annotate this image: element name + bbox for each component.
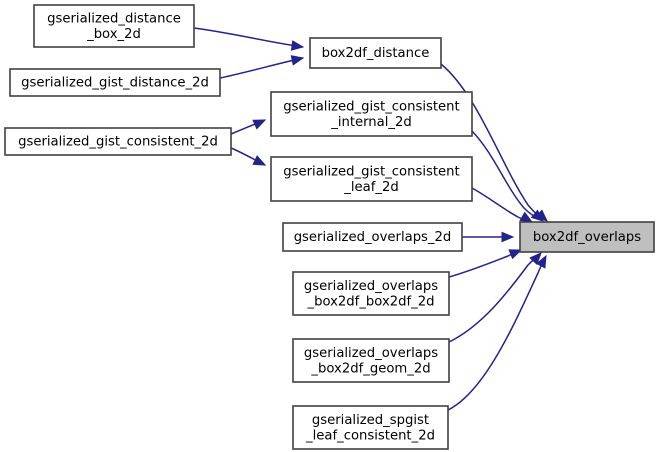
- arrowhead-icon: [291, 41, 303, 52]
- node-label: gserialized_overlaps_2d: [294, 230, 452, 245]
- edge-gserialized_gist_consistent_internal_2d-to-box2df_overlaps: [472, 131, 546, 225]
- edge-gserialized_overlaps_box2df_geom_2d-to-box2df_overlaps: [449, 250, 544, 342]
- node-gserialized_gist_consistent_internal_2d[interactable]: gserialized_gist_consistent_internal_2d: [271, 92, 472, 136]
- arrowhead-icon: [253, 116, 267, 129]
- edge-line: [449, 252, 517, 277]
- edge-gserialized_gist_consistent_2d-to-gserialized_gist_consistent_leaf_2d: [231, 148, 267, 169]
- node-label: _internal_2d: [330, 115, 412, 130]
- call-graph-svg: gserialized_distance_box_2dgserialized_g…: [0, 0, 657, 452]
- node-label: gserialized_gist_consistent: [283, 164, 459, 179]
- edge-gserialized_spgist_leaf_consistent_2d-to-box2df_overlaps: [448, 254, 550, 410]
- edge-line: [448, 261, 543, 410]
- node-box2df_overlaps[interactable]: box2df_overlaps: [520, 222, 654, 252]
- node-label: box2df_distance: [322, 46, 430, 61]
- edge-gserialized_gist_consistent_leaf_2d-to-box2df_overlaps: [472, 188, 534, 226]
- node-gserialized_spgist_leaf_consistent_2d[interactable]: gserialized_spgist_leaf_consistent_2d: [293, 406, 448, 449]
- node-label: gserialized_distance: [47, 11, 181, 26]
- arrowhead-icon: [291, 54, 304, 65]
- node-gserialized_distance_box_2d[interactable]: gserialized_distance_box_2d: [34, 5, 194, 47]
- edge-line: [472, 188, 528, 221]
- node-label: _box2df_box2df_2d: [306, 294, 434, 309]
- edge-gserialized_gist_distance_2d-to-box2df_distance: [220, 54, 304, 78]
- node-label: gserialized_gist_consistent: [283, 99, 459, 114]
- node-gserialized_overlaps_2d[interactable]: gserialized_overlaps_2d: [283, 223, 462, 251]
- node-label: _leaf_consistent_2d: [305, 428, 435, 443]
- node-gserialized_gist_consistent_leaf_2d[interactable]: gserialized_gist_consistent_leaf_2d: [271, 157, 472, 201]
- node-gserialized_overlaps_box2df_box2df_2d[interactable]: gserialized_overlaps_box2df_box2df_2d: [293, 272, 449, 315]
- node-gserialized_overlaps_box2df_geom_2d[interactable]: gserialized_overlaps_box2df_geom_2d: [293, 339, 449, 382]
- arrowhead-icon: [502, 232, 513, 241]
- node-label: gserialized_gist_consistent_2d: [18, 135, 218, 150]
- node-label: gserialized_spgist: [312, 413, 429, 428]
- edge-line: [220, 58, 303, 78]
- node-label: _box2df_geom_2d: [310, 361, 430, 376]
- node-label: _box_2d: [86, 27, 141, 42]
- edge-line: [449, 256, 538, 342]
- node-label: gserialized_gist_distance_2d: [21, 76, 209, 91]
- node-layer: gserialized_distance_box_2dgserialized_g…: [5, 5, 654, 449]
- edge-gserialized_distance_box_2d-to-box2df_distance: [194, 28, 304, 52]
- node-gserialized_gist_distance_2d[interactable]: gserialized_gist_distance_2d: [10, 69, 220, 96]
- node-label: gserialized_overlaps: [304, 346, 438, 361]
- node-label: box2df_overlaps: [533, 230, 641, 245]
- arrowhead-icon: [253, 156, 267, 169]
- node-gserialized_gist_consistent_2d[interactable]: gserialized_gist_consistent_2d: [5, 128, 231, 155]
- node-box2df_distance[interactable]: box2df_distance: [310, 38, 441, 68]
- call-graph-canvas: gserialized_distance_box_2dgserialized_g…: [0, 0, 657, 452]
- edge-gserialized_overlaps_2d-to-box2df_overlaps: [462, 232, 513, 241]
- node-label: _leaf_2d: [343, 180, 398, 195]
- edge-gserialized_gist_consistent_2d-to-gserialized_gist_consistent_internal_2d: [231, 116, 267, 134]
- edge-line: [194, 28, 303, 47]
- node-label: gserialized_overlaps: [304, 279, 438, 294]
